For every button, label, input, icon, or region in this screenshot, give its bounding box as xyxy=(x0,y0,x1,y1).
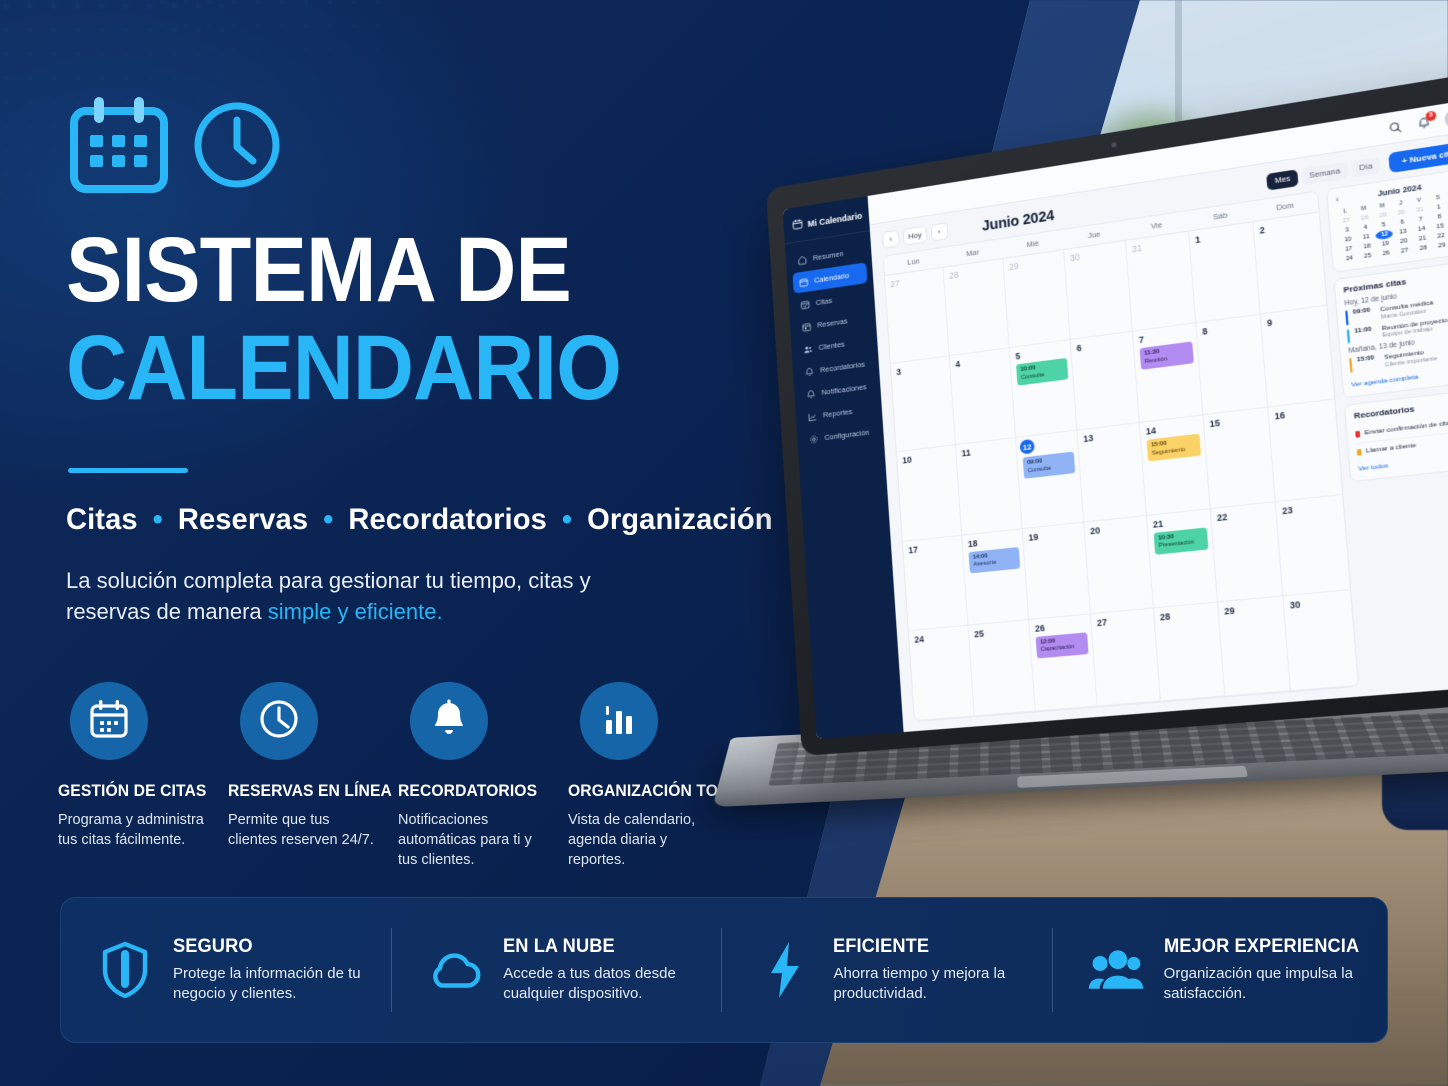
tab-semana[interactable]: Semana xyxy=(1301,161,1349,185)
calendar-day-number: 27 xyxy=(1097,613,1150,628)
next-month-button[interactable]: › xyxy=(930,222,948,241)
calendar-day-cell[interactable]: 2 xyxy=(1253,212,1326,314)
search-icon[interactable] xyxy=(1387,118,1404,135)
sidebar-item-label: Reportes xyxy=(823,407,853,420)
app-main: 3 ‹ Hoy › Junio 2024 Mes xyxy=(868,98,1448,732)
home-icon xyxy=(797,254,807,265)
mini-day[interactable]: 28 xyxy=(1414,243,1432,254)
tab-dia[interactable]: Día xyxy=(1351,156,1381,177)
app-content: LunMarMiéJueVieSábDom 27282930311234510:… xyxy=(872,166,1448,733)
calendar-day-number: 4 xyxy=(955,353,1006,370)
webcam-icon xyxy=(1111,142,1117,148)
calendar-day-cell[interactable]: 30 xyxy=(1283,590,1358,691)
benefit-text: EFICIENTE Ahorra tiempo y mejora la prod… xyxy=(833,936,1031,1004)
mini-day[interactable]: 26 xyxy=(1377,248,1395,259)
upcoming-list: Hoy, 12 de junio09:00Consulta médicaMarí… xyxy=(1344,283,1448,373)
hero-description: La solución completa para gestionar tu t… xyxy=(66,565,626,627)
calendar-day-cell[interactable]: 28 xyxy=(1154,602,1225,701)
reminder-status-indicator xyxy=(1355,430,1360,437)
sidebar-item-label: Recordatorios xyxy=(820,360,865,375)
notification-badge: 3 xyxy=(1425,110,1436,121)
calendar-day-cell[interactable]: 4 xyxy=(950,348,1016,445)
calendar-day-cell[interactable]: 17 xyxy=(903,535,969,631)
bell-icon xyxy=(428,698,470,745)
reminder-status-indicator xyxy=(1357,448,1362,455)
calendar-day-number: 31 xyxy=(1132,236,1185,254)
feature-icon-badge xyxy=(70,682,148,760)
calendar-event[interactable]: 09:00Consulta xyxy=(1023,452,1076,479)
tagline-part-0: Citas xyxy=(66,503,138,536)
calendar-icon xyxy=(68,95,170,195)
feature-item-gestion-de-citas: GESTIÓN DE CITAS Programa y administra t… xyxy=(58,682,228,870)
calendar-day-cell[interactable]: 510:00Consulta xyxy=(1010,340,1078,438)
users-icon xyxy=(803,343,813,354)
bell-icon xyxy=(806,388,816,399)
feature-title: GESTIÓN DE CITAS xyxy=(58,782,204,801)
calendar-day-cell[interactable]: 28 xyxy=(944,259,1010,356)
hero-title-line2: CALENDARIO xyxy=(66,326,621,411)
calendar-day-cell[interactable]: 25 xyxy=(968,620,1035,716)
tagline-separator: • xyxy=(153,503,163,536)
calendar-day-cell[interactable]: 20 xyxy=(1084,515,1154,614)
mini-day[interactable]: 25 xyxy=(1359,251,1377,262)
mini-day[interactable]: 27 xyxy=(1396,246,1414,257)
cloud-icon xyxy=(425,947,485,993)
benefit-title: EN LA NUBE xyxy=(503,936,693,958)
decorative-dot-grid-secondary xyxy=(150,0,390,100)
calendar-event[interactable]: 10:00Consulta xyxy=(1016,358,1068,386)
calendar-nav-buttons: ‹ Hoy › xyxy=(882,222,948,249)
mini-prev-button[interactable]: ‹ xyxy=(1336,195,1340,205)
benefit-text: SEGURO Protege la información de tu nego… xyxy=(173,936,371,1004)
calendar-day-cell[interactable]: 22 xyxy=(1211,502,1284,602)
calendar-day-number: 18 xyxy=(968,533,1019,548)
calendar-event[interactable]: 12:00Capacitación xyxy=(1036,632,1089,658)
calendar-day-number: 11 xyxy=(961,443,1012,459)
page-title: Junio 2024 xyxy=(981,206,1054,233)
benefit-text: MEJOR EXPERIENCIA Organización que impul… xyxy=(1164,936,1367,1004)
calendar-day-number: 21 xyxy=(1153,513,1207,529)
calendar-day-number: 9 xyxy=(1267,311,1324,329)
calendar-day-number: 28 xyxy=(1160,607,1214,622)
chart-icon xyxy=(807,411,817,422)
avatar[interactable] xyxy=(1444,108,1448,128)
app-brand-label: Mi Calendario xyxy=(807,210,862,228)
sidebar-item-label: Reservas xyxy=(817,316,848,329)
mini-calendar-title: Junio 2024 xyxy=(1377,182,1422,198)
calendar-day-cell[interactable]: 1415:00Seguimiento xyxy=(1140,416,1211,516)
calendar-day-number: 23 xyxy=(1282,499,1339,516)
calendar-day-cell[interactable]: 30 xyxy=(1064,241,1133,340)
calendar-event[interactable]: 15:00Seguimiento xyxy=(1147,434,1202,462)
calendar-day-number: 17 xyxy=(908,540,958,555)
appointment-color-bar xyxy=(1345,310,1348,324)
calendar-day-number: 28 xyxy=(949,264,999,281)
calendar-day-number: 13 xyxy=(1083,428,1136,444)
sidebar-item-label: Clientes xyxy=(818,340,845,352)
reminders-card: Recordatorios Enviar confirmación de cit… xyxy=(1344,387,1448,482)
calendar-day-cell[interactable]: 3 xyxy=(891,356,956,452)
tagline-part-2: Recordatorios xyxy=(348,503,547,536)
calendar-day-cell[interactable]: 1814:00Asesoría xyxy=(962,529,1029,626)
benefit-description: Protege la información de tu negocio y c… xyxy=(173,964,371,1004)
poster-stage: SISTEMA DE CALENDARIO Citas • Reservas •… xyxy=(0,0,1448,1086)
calendar-day-number: 8 xyxy=(1202,320,1256,337)
calendar-day-number: 27 xyxy=(890,272,939,289)
calendar-month-view: LunMarMiéJueVieSábDom 27282930311234510:… xyxy=(883,190,1360,722)
calendar-day-cell[interactable]: 15 xyxy=(1203,408,1275,509)
calendar-event[interactable]: 11:30Reunión xyxy=(1140,342,1194,371)
appointment-color-bar xyxy=(1349,358,1352,373)
calendar-day-cell[interactable]: 9 xyxy=(1261,306,1335,408)
feature-title: RESERVAS EN LÍNEA xyxy=(228,782,374,801)
calendar-day-number-today: 12 xyxy=(1019,439,1034,455)
feature-description: Vista de calendario, agenda diaria y rep… xyxy=(568,810,722,870)
laptop-mockup: Mi Calendario Resumen xyxy=(742,168,1448,868)
calendar-day-cell[interactable]: 2612:00Capacitación xyxy=(1029,614,1098,711)
appointment-color-bar xyxy=(1347,329,1350,343)
calendar-day-number: 19 xyxy=(1028,527,1080,543)
bar-chart-icon xyxy=(598,698,640,745)
calendar-day-cell[interactable]: 27 xyxy=(1091,608,1161,706)
calendar-day-number: 26 xyxy=(1035,619,1087,634)
clock-icon xyxy=(258,698,300,745)
title-underline xyxy=(68,468,188,473)
calendar-day-cell[interactable]: 2110:30Presentación xyxy=(1147,509,1218,609)
calendar-day-cell[interactable]: 19 xyxy=(1023,522,1091,620)
benefit-item-mejor-experiencia: MEJOR EXPERIENCIA Organización que impul… xyxy=(1052,924,1387,1016)
calendar-day-cell[interactable]: 29 xyxy=(1218,596,1291,696)
view-full-agenda-link[interactable]: Ver agenda completa xyxy=(1351,373,1419,389)
tab-mes[interactable]: Mes xyxy=(1266,169,1298,190)
feature-item-recordatorios: RECORDATORIOS Notificaciones automáticas… xyxy=(398,682,568,870)
new-appointment-button[interactable]: + Nueva cita xyxy=(1389,141,1448,173)
benefit-description: Organización que impulsa la satisfacción… xyxy=(1164,964,1367,1004)
feature-list: GESTIÓN DE CITAS Programa y administra t… xyxy=(58,682,738,870)
hero-title-line1: SISTEMA DE xyxy=(66,228,571,313)
calendar-day-number: 29 xyxy=(1224,601,1279,617)
benefit-item-seguro: SEGURO Protege la información de tu nego… xyxy=(61,924,391,1016)
calendar-day-number: 3 xyxy=(896,361,946,377)
bolt-icon xyxy=(755,940,815,1000)
calendar-day-cell[interactable]: 31 xyxy=(1126,232,1196,332)
upcoming-appointments-card: Próximas citas Hoy, 12 de junio09:00Cons… xyxy=(1333,259,1448,398)
calendar-day-number: 29 xyxy=(1009,255,1060,272)
benefit-title: SEGURO xyxy=(173,936,363,958)
sidebar-item-label: Calendario xyxy=(814,271,849,285)
laptop-lid: Mi Calendario Resumen xyxy=(766,70,1448,756)
sidebar-item-label: Resumen xyxy=(813,249,844,262)
calendar-day-number: 20 xyxy=(1090,520,1143,536)
feature-icon-badge xyxy=(410,682,488,760)
calendar-day-cell[interactable]: 711:30Reunión xyxy=(1133,323,1204,423)
prev-month-button[interactable]: ‹ xyxy=(882,230,900,249)
calendar-day-cell[interactable]: 24 xyxy=(909,625,975,721)
tagline-separator: • xyxy=(562,503,572,536)
calendar-day-cell[interactable]: 29 xyxy=(1003,250,1070,348)
benefit-item-eficiente: EFICIENTE Ahorra tiempo y mejora la prod… xyxy=(721,924,1051,1016)
hero-tagline: Citas • Reservas • Recordatorios • Organ… xyxy=(66,503,773,537)
shield-icon xyxy=(95,941,155,999)
benefit-description: Ahorra tiempo y mejora la productividad. xyxy=(833,964,1031,1004)
feature-icon-badge xyxy=(240,682,318,760)
tagline-separator: • xyxy=(323,503,333,536)
calendar-icon xyxy=(792,218,803,232)
appointment-time: 15:00 xyxy=(1357,355,1380,372)
appointment-time: 09:00 xyxy=(1353,307,1376,324)
calendar-day-cell[interactable]: 16 xyxy=(1268,400,1342,502)
benefit-item-en-la-nube: EN LA NUBE Accede a tus datos desde cual… xyxy=(391,924,721,1016)
calendar-day-cell[interactable]: 11 xyxy=(956,438,1023,535)
benefit-title: EFICIENTE xyxy=(833,936,1023,958)
users-icon xyxy=(1086,946,1146,994)
tagline-part-1: Reservas xyxy=(178,503,308,536)
calendar-day-cell[interactable]: 8 xyxy=(1196,315,1268,416)
app-screen: Mi Calendario Resumen xyxy=(783,98,1448,738)
calendar-icon xyxy=(88,698,130,745)
sidebar-item-label: Citas xyxy=(815,296,832,307)
feature-item-organizacion-total: ORGANIZACIÓN TOTAL Vista de calendario, … xyxy=(568,682,738,870)
calendar-day-number: 22 xyxy=(1217,507,1272,523)
notifications-bell-icon[interactable]: 3 xyxy=(1415,114,1432,131)
calendar-day-number: 30 xyxy=(1070,246,1122,264)
sidebar-item-label: Notificaciones xyxy=(821,382,866,397)
calendar-day-cell[interactable]: 10 xyxy=(897,445,962,541)
calendar-check-icon xyxy=(800,299,810,310)
calendar-day-cell[interactable]: 13 xyxy=(1077,423,1146,522)
calendar-day-number: 6 xyxy=(1076,337,1128,354)
hero-icon-row xyxy=(68,95,282,195)
calendar-day-number: 25 xyxy=(974,624,1025,639)
feature-description: Permite que tus clientes reserven 24/7. xyxy=(228,810,382,850)
feature-title: ORGANIZACIÓN TOTAL xyxy=(568,782,714,801)
view-all-reminders-link[interactable]: Ver todos xyxy=(1358,462,1389,473)
calendar-day-cell[interactable]: 1209:00Consulta xyxy=(1016,431,1084,529)
calendar-day-number: 15 xyxy=(1209,413,1264,430)
appointment-time: 11:00 xyxy=(1354,325,1377,342)
gear-icon xyxy=(809,433,819,444)
today-button[interactable]: Hoy xyxy=(903,225,928,245)
mini-day[interactable]: 5 xyxy=(1375,220,1393,231)
calendar-event[interactable]: 14:00Asesoría xyxy=(968,547,1020,574)
mini-day[interactable]: 29 xyxy=(1433,240,1448,251)
feature-description: Notificaciones automáticas para ti y tus… xyxy=(398,810,552,870)
feature-icon-badge xyxy=(580,682,658,760)
calendar-day-cell[interactable]: 27 xyxy=(885,268,950,364)
calendar-grid: 27282930311234510:00Consulta6711:30Reuni… xyxy=(885,212,1358,721)
clock-icon xyxy=(192,100,282,190)
benefit-text: EN LA NUBE Accede a tus datos desde cual… xyxy=(503,936,701,1004)
calendar-event[interactable]: 10:30Presentación xyxy=(1154,527,1209,554)
benefit-description: Accede a tus datos desde cualquier dispo… xyxy=(503,964,701,1004)
sidebar-item-label: Configuración xyxy=(824,428,869,442)
benefits-banner: SEGURO Protege la información de tu nego… xyxy=(60,897,1388,1043)
feature-title: RECORDATORIOS xyxy=(398,782,544,801)
benefit-title: MEJOR EXPERIENCIA xyxy=(1164,936,1359,958)
calendar-day-cell[interactable]: 1 xyxy=(1189,222,1261,323)
bell-icon xyxy=(804,366,814,377)
calendar-day-cell[interactable]: 23 xyxy=(1276,495,1350,596)
calendar-day-number: 30 xyxy=(1289,595,1346,611)
mini-day[interactable]: 24 xyxy=(1341,254,1359,265)
calendar-day-number: 1 xyxy=(1195,227,1249,245)
feature-item-reservas-en-linea: RESERVAS EN LÍNEA Permite que tus client… xyxy=(228,682,398,870)
calendar-book-icon xyxy=(801,321,811,332)
hero-description-highlight: simple y eficiente. xyxy=(268,599,443,624)
calendar-day-cell[interactable]: 6 xyxy=(1071,332,1140,431)
calendar-day-number: 16 xyxy=(1274,405,1331,422)
calendar-icon xyxy=(799,276,809,287)
feature-description: Programa y administra tus citas fácilmen… xyxy=(58,810,212,850)
calendar-day-number: 2 xyxy=(1259,217,1315,236)
calendar-day-number: 10 xyxy=(902,450,952,466)
calendar-day-number: 24 xyxy=(914,630,964,645)
sidebar-nav: Resumen Calendario Citas xyxy=(785,231,884,451)
